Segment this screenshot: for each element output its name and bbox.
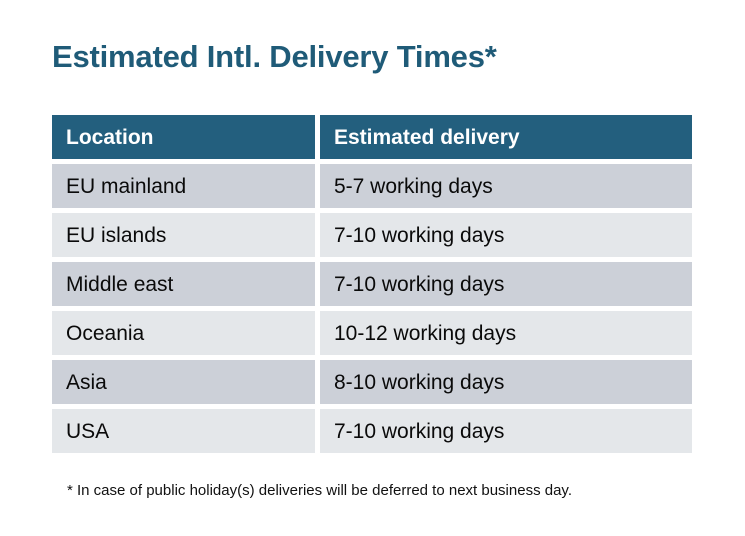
table-row: USA 7-10 working days — [52, 409, 692, 453]
cell-estimated-delivery: 7-10 working days — [320, 409, 692, 453]
table-row: Asia 8-10 working days — [52, 360, 692, 404]
page-title: Estimated Intl. Delivery Times* — [52, 38, 497, 76]
column-header-estimated-delivery: Estimated delivery — [320, 115, 692, 159]
cell-estimated-delivery: 7-10 working days — [320, 262, 692, 306]
column-header-location: Location — [52, 115, 315, 159]
cell-location: Asia — [52, 360, 315, 404]
delivery-times-page: Estimated Intl. Delivery Times* Location… — [0, 0, 745, 536]
table-row: Oceania 10-12 working days — [52, 311, 692, 355]
cell-location: Middle east — [52, 262, 315, 306]
cell-estimated-delivery: 8-10 working days — [320, 360, 692, 404]
cell-location: USA — [52, 409, 315, 453]
table-row: EU mainland 5-7 working days — [52, 164, 692, 208]
table-header-row: Location Estimated delivery — [52, 115, 692, 159]
table-row: EU islands 7-10 working days — [52, 213, 692, 257]
cell-estimated-delivery: 10-12 working days — [320, 311, 692, 355]
cell-location: Oceania — [52, 311, 315, 355]
table-row: Middle east 7-10 working days — [52, 262, 692, 306]
delivery-times-table: Location Estimated delivery EU mainland … — [52, 115, 692, 453]
cell-estimated-delivery: 5-7 working days — [320, 164, 692, 208]
cell-location: EU mainland — [52, 164, 315, 208]
cell-location: EU islands — [52, 213, 315, 257]
footnote-text: * In case of public holiday(s) deliverie… — [67, 481, 572, 501]
cell-estimated-delivery: 7-10 working days — [320, 213, 692, 257]
